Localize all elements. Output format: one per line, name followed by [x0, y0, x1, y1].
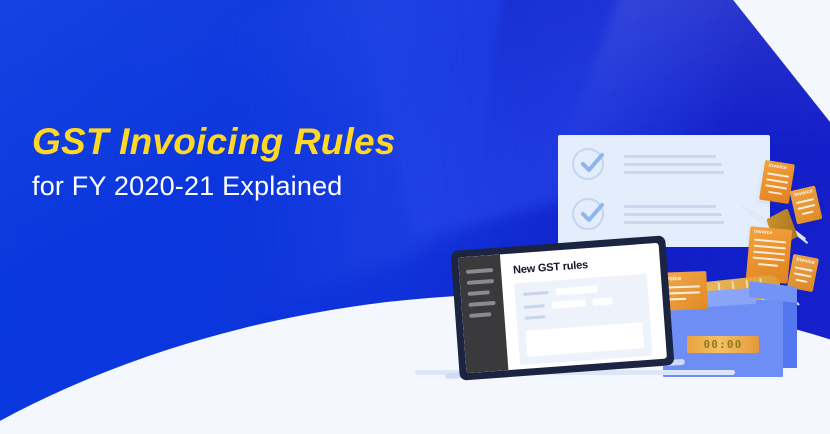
form-row [525, 308, 642, 320]
sidebar-item [467, 279, 494, 285]
checkmark-icon [579, 202, 605, 226]
invoice-paper-label: Invoice [790, 186, 817, 200]
checklist-item [572, 198, 724, 230]
laptop-screen: New GST rules [458, 243, 667, 373]
timer-display: 00:00 [687, 336, 759, 353]
form-input [556, 285, 598, 295]
laptop: New GST rules [451, 235, 675, 380]
sidebar-item [468, 301, 495, 307]
form-textarea [526, 322, 645, 356]
check-circle-icon [572, 148, 604, 180]
check-circle-icon [572, 198, 604, 230]
form-input [592, 297, 612, 305]
text-line [624, 171, 724, 174]
form-row [524, 295, 641, 311]
sidebar-item [469, 312, 491, 318]
form-label [523, 291, 549, 296]
sidebar-item [466, 268, 493, 274]
invoice-paper-label: Invoice [764, 160, 795, 173]
form-label [524, 304, 545, 309]
text-line [624, 163, 722, 166]
form-row [523, 282, 640, 298]
text-line [624, 213, 722, 216]
form-label [525, 315, 546, 320]
invoice-paper-label: Invoice [792, 254, 819, 267]
app-content: New GST rules [500, 243, 667, 370]
form-input [552, 299, 586, 308]
screen-title: New GST rules [513, 254, 651, 276]
flying-invoice-paper: Invoice [790, 186, 823, 225]
flying-invoice-paper: Invoice [759, 160, 795, 204]
timer-digits: 00:00 [703, 339, 742, 350]
checkmark-icon [579, 152, 605, 176]
box-front-panel: 00:00 [663, 300, 783, 377]
gst-invoicing-banner: GST Invoicing Rules for FY 2020-21 Expla… [0, 0, 830, 434]
checklist-text-lines [624, 155, 724, 174]
sidebar-item [468, 290, 490, 296]
checklist-text-lines [624, 205, 724, 224]
form-panel [514, 274, 653, 366]
checklist-card [558, 135, 770, 247]
checklist-item [572, 148, 724, 180]
text-line [624, 221, 724, 224]
text-line [624, 155, 716, 158]
illustration: Invoice Invoice Invoice Invoice [0, 0, 830, 434]
text-line [624, 205, 716, 208]
